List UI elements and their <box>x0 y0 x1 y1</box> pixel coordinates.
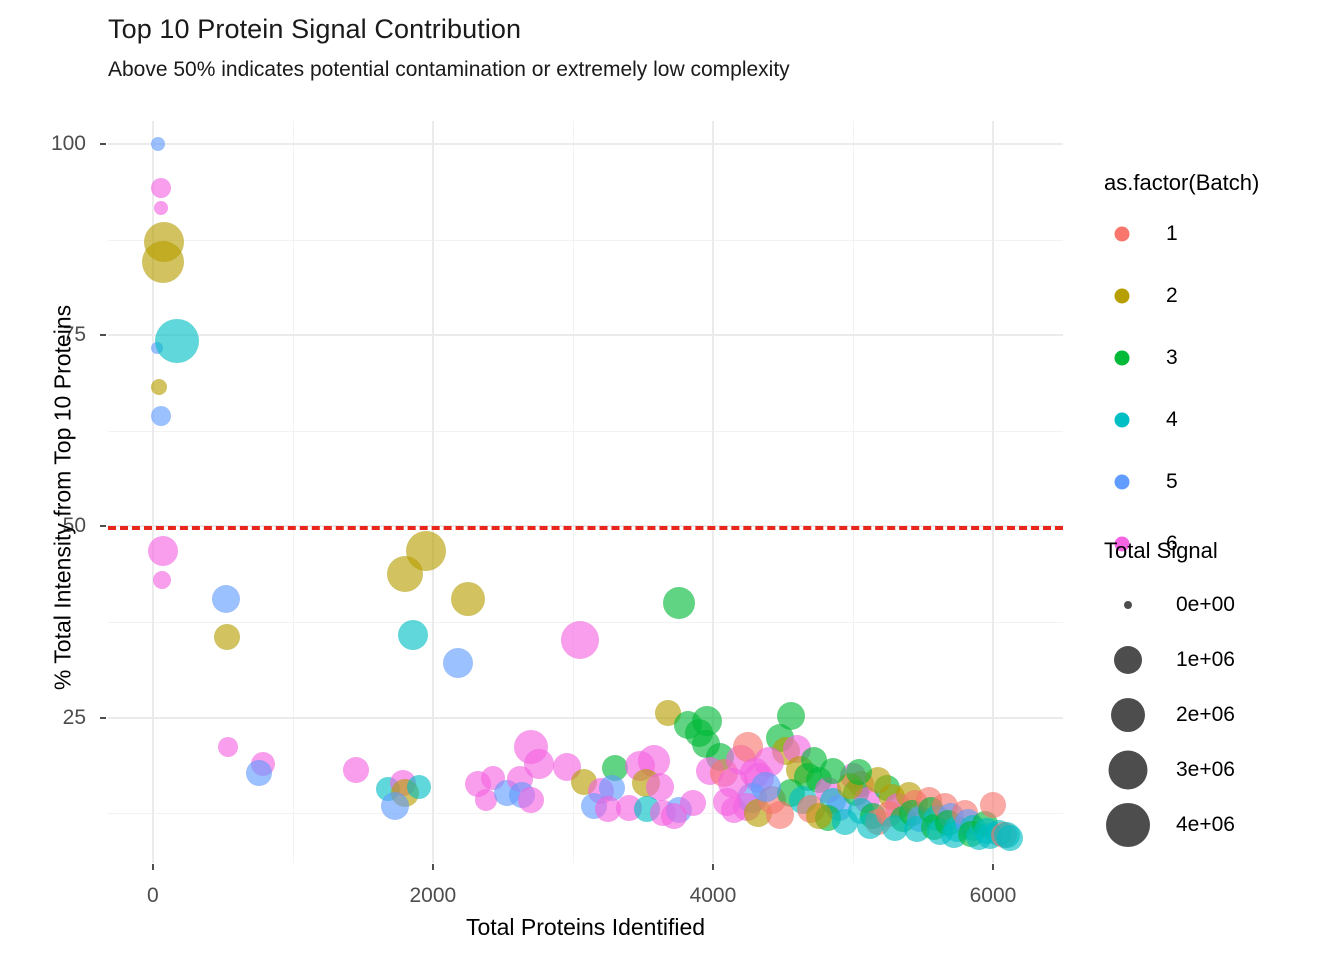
scatter-point <box>846 759 872 785</box>
scatter-point <box>154 201 168 215</box>
x-axis-tick-label: 2000 <box>410 884 457 908</box>
scatter-point <box>407 775 431 799</box>
scatter-point <box>997 825 1023 851</box>
size-legend-bubble <box>1106 803 1150 847</box>
scatter-point <box>155 319 199 363</box>
size-legend-bubble <box>1124 601 1132 609</box>
size-legend-item-3e+06[interactable]: 3e+06 <box>1104 747 1284 793</box>
x-axis-tick-mark <box>712 864 714 870</box>
size-legend-item-2e+06[interactable]: 2e+06 <box>1104 692 1284 738</box>
color-legend-label: 4 <box>1166 408 1178 432</box>
size-legend-title: Total Signal <box>1104 538 1218 564</box>
scatter-point <box>443 648 473 678</box>
scatter-point <box>151 178 171 198</box>
scatter-point <box>153 571 171 589</box>
color-legend-swatch <box>1115 413 1130 428</box>
x-axis-tick-label: 4000 <box>690 884 737 908</box>
size-legend-item-1e+06[interactable]: 1e+06 <box>1104 637 1284 683</box>
plot-subtitle: Above 50% indicates potential contaminat… <box>108 58 790 82</box>
color-legend-label: 2 <box>1166 284 1178 308</box>
x-axis-label: Total Proteins Identified <box>108 914 1063 941</box>
color-legend-item-2[interactable]: 2 <box>1104 273 1264 319</box>
scatter-point <box>751 772 781 802</box>
color-legend-item-5[interactable]: 5 <box>1104 459 1264 505</box>
color-legend-swatch <box>1115 289 1130 304</box>
color-legend-swatch <box>1115 475 1130 490</box>
x-axis-tick-label: 6000 <box>970 884 1017 908</box>
scatter-point <box>212 585 240 613</box>
size-legend-bubble <box>1114 646 1142 674</box>
color-legend-swatch <box>1115 351 1130 366</box>
y-axis-label: % Total Intensity from Top 10 Proteins <box>50 127 77 869</box>
x-axis-tick-mark <box>152 864 154 870</box>
scatter-point <box>151 379 167 395</box>
size-legend-bubble <box>1109 751 1148 790</box>
scatter-point <box>980 792 1006 818</box>
scatter-point <box>151 137 165 151</box>
scatter-point <box>680 790 706 816</box>
scatter-point <box>148 536 178 566</box>
scatter-point <box>343 757 369 783</box>
color-legend-item-3[interactable]: 3 <box>1104 335 1264 381</box>
color-legend-item-1[interactable]: 1 <box>1104 211 1264 257</box>
size-legend-label: 0e+00 <box>1176 593 1235 617</box>
scatter-point <box>151 406 171 426</box>
scatter-point <box>451 582 485 616</box>
scatter-point <box>246 760 272 786</box>
x-axis-tick-label: 0 <box>147 884 159 908</box>
scatter-point <box>381 792 409 820</box>
size-legend-label: 2e+06 <box>1176 703 1235 727</box>
color-legend-label: 5 <box>1166 470 1178 494</box>
scatter-point <box>398 620 428 650</box>
color-legend-label: 1 <box>1166 222 1178 246</box>
scatter-point <box>663 587 695 619</box>
scatter-point <box>766 801 794 829</box>
scatter-point <box>806 803 832 829</box>
size-legend-bubble <box>1111 698 1145 732</box>
x-axis-tick-mark <box>992 864 994 870</box>
scatter-point <box>524 749 554 779</box>
scatter-point <box>214 624 240 650</box>
scatter-point <box>218 737 238 757</box>
chart-root: Top 10 Protein Signal Contribution Above… <box>0 0 1344 960</box>
y-axis-tick-mark <box>100 525 106 527</box>
scatter-points <box>108 121 1063 863</box>
y-axis-tick-mark <box>100 143 106 145</box>
color-legend-swatch <box>1115 227 1130 242</box>
size-legend-item-0e+00[interactable]: 0e+00 <box>1104 582 1284 628</box>
scatter-point <box>561 621 599 659</box>
scatter-point <box>142 241 184 283</box>
scatter-point <box>387 556 423 592</box>
page-title: Top 10 Protein Signal Contribution <box>108 14 521 45</box>
color-legend-item-4[interactable]: 4 <box>1104 397 1264 443</box>
color-legend-label: 3 <box>1166 346 1178 370</box>
x-axis-tick-mark <box>432 864 434 870</box>
size-legend-label: 1e+06 <box>1176 648 1235 672</box>
scatter-point <box>820 758 846 784</box>
color-legend-title: as.factor(Batch) <box>1104 170 1259 196</box>
plot-panel <box>108 121 1063 863</box>
y-axis-tick-mark <box>100 334 106 336</box>
size-legend-item-4e+06[interactable]: 4e+06 <box>1104 802 1284 848</box>
size-legend-label: 4e+06 <box>1176 813 1235 837</box>
scatter-point <box>518 787 544 813</box>
scatter-point <box>713 788 741 816</box>
scatter-point <box>777 702 805 730</box>
y-axis-tick-mark <box>100 717 106 719</box>
size-legend-label: 3e+06 <box>1176 758 1235 782</box>
